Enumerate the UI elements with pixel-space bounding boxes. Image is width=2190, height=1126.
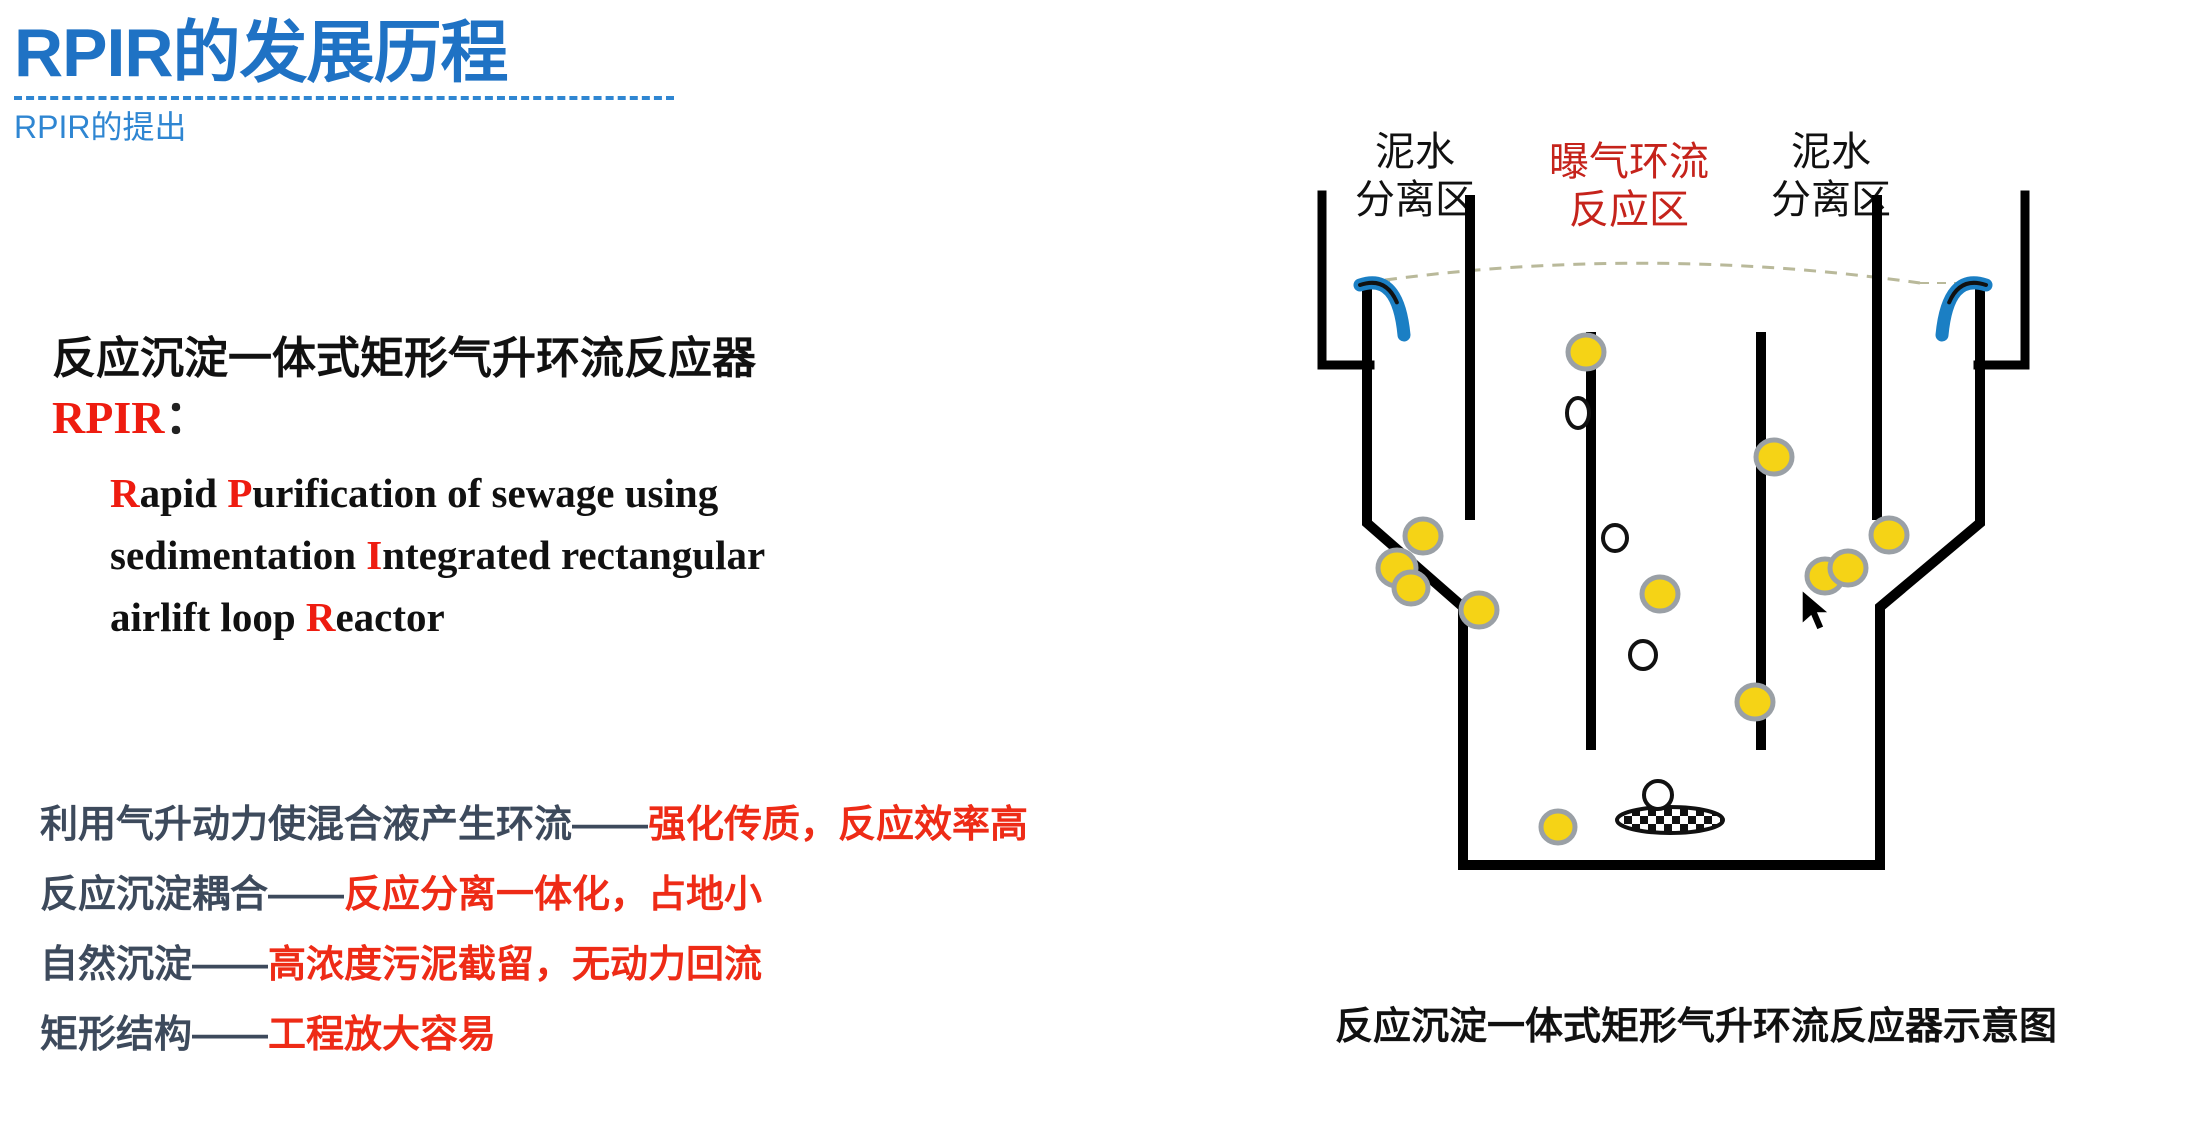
reactor-name-cn: 反应沉淀一体式矩形气升环流反应器 (0, 330, 960, 388)
sludge-floc (1461, 593, 1497, 627)
expansion-text-2a: sedimentation (110, 532, 366, 578)
expansion-text-1a: apid (140, 470, 228, 516)
diagram-caption: 反应沉淀一体式矩形气升环流反应器示意图 (1335, 1002, 2057, 1052)
list-item: 反应沉淀耦合——反应分离一体化，占地小 (0, 860, 1000, 930)
acronym-text: RPIR (52, 392, 164, 443)
acronym-colon: ： (164, 392, 210, 443)
cap-letter-p: P (227, 470, 252, 516)
gas-bubble (1567, 398, 1589, 428)
sludge-floc (1737, 685, 1773, 719)
cap-letter-r1: R (110, 470, 140, 516)
right-vessel-wall (1880, 280, 1980, 865)
sludge-floc (1756, 440, 1792, 474)
sludge-floc (1871, 518, 1907, 552)
page-title: RPIR的发展历程 (14, 14, 714, 92)
bullet-lead-0: 利用气升动力使混合液产生环流—— (40, 804, 648, 846)
page-subtitle: RPIR的提出 (14, 100, 714, 150)
sludge-floc (1830, 551, 1866, 585)
sludge-floc (1568, 335, 1604, 369)
list-item: 矩形结构——工程放大容易 (0, 1000, 1000, 1070)
mouse-pointer-icon (1800, 588, 1834, 636)
acronym-expansion: Rapid Purification of sewage using sedim… (0, 448, 960, 648)
bullet-highlight-2: 高浓度污泥截留，无动力回流 (268, 944, 762, 986)
cap-letter-i: I (366, 532, 382, 578)
expansion-line-2: sedimentation Integrated rectangular (110, 524, 960, 586)
sludge-floc (1642, 577, 1678, 611)
sludge-floc (1394, 572, 1428, 604)
acronym-line: RPIR： (0, 388, 960, 448)
content-block: 反应沉淀一体式矩形气升环流反应器 RPIR： Rapid Purificatio… (0, 330, 960, 648)
cap-letter-r2: R (306, 594, 336, 640)
expansion-text-2b: ntegrated rectangular (382, 532, 765, 578)
expansion-text-3a: airlift loop (110, 594, 306, 640)
expansion-line-1: Rapid Purification of sewage using (110, 462, 960, 524)
bullet-lead-3: 矩形结构—— (40, 1014, 268, 1056)
expansion-text-1b: urification of sewage using (252, 470, 718, 516)
sludge-floc (1541, 811, 1575, 843)
gas-bubble (1644, 781, 1672, 809)
slide-header: RPIR的发展历程 RPIR的提出 (14, 14, 714, 150)
bullet-highlight-0: 强化传质，反应效率高 (648, 804, 1028, 846)
bullet-lead-1: 反应沉淀耦合—— (40, 874, 344, 916)
feature-list: 利用气升动力使混合液产生环流——强化传质，反应效率高 反应沉淀耦合——反应分离一… (0, 790, 1000, 1070)
expansion-line-3: airlift loop Reactor (110, 586, 960, 648)
reactor-schematic-svg (1280, 120, 2180, 940)
reactor-diagram: 泥水 分离区 曝气环流 反应区 泥水 分离区 (1280, 120, 2180, 1120)
slide-canvas: RPIR的发展历程 RPIR的提出 反应沉淀一体式矩形气升环流反应器 RPIR：… (0, 0, 2190, 1126)
bullet-highlight-1: 反应分离一体化，占地小 (344, 874, 762, 916)
bullet-highlight-3: 工程放大容易 (268, 1014, 496, 1056)
expansion-text-3b: eactor (335, 594, 444, 640)
gas-bubble (1603, 525, 1627, 551)
bullet-lead-2: 自然沉淀—— (40, 944, 268, 986)
list-item: 自然沉淀——高浓度污泥截留，无动力回流 (0, 930, 1000, 1000)
sludge-floc (1405, 519, 1441, 553)
list-item: 利用气升动力使混合液产生环流——强化传质，反应效率高 (0, 790, 1000, 860)
gas-bubble (1630, 641, 1656, 669)
aerator-diffuser-icon (1617, 807, 1723, 833)
